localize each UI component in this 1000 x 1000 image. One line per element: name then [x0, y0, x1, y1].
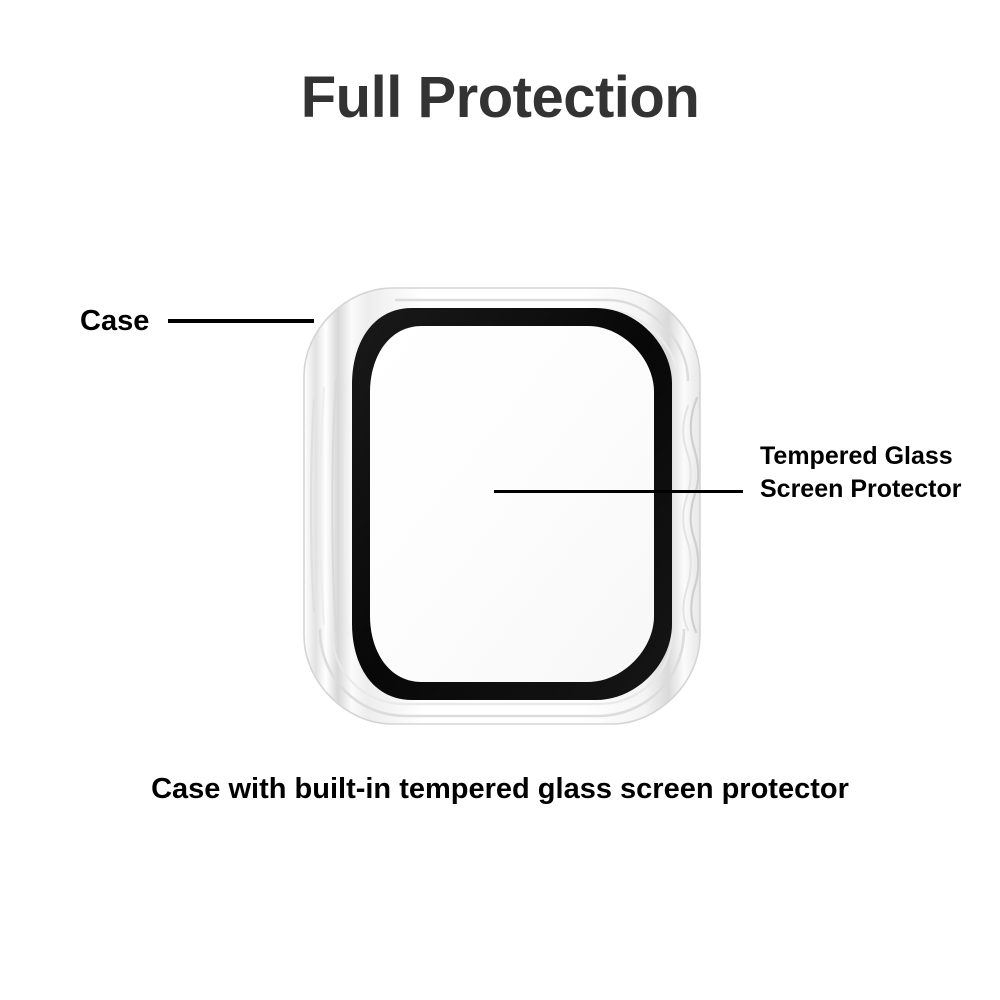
callout-case: Case — [80, 300, 314, 342]
callout-glass-leader-line — [494, 490, 743, 493]
bottom-caption: Case with built-in tempered glass screen… — [0, 772, 1000, 807]
page-title: Full Protection — [0, 66, 1000, 131]
callout-glass-label-line1: Tempered Glass — [760, 440, 961, 473]
callout-case-label: Case — [80, 307, 149, 336]
tempered-glass-screen — [370, 326, 654, 682]
product-illustration — [296, 280, 708, 732]
callout-glass-label-line2: Screen Protector — [760, 473, 961, 506]
smartwatch-case-svg — [296, 280, 708, 732]
infographic-canvas: Full Protection — [0, 0, 1000, 1000]
callout-case-leader-line — [168, 319, 314, 323]
callout-glass-label: Tempered Glass Screen Protector — [760, 440, 961, 506]
screen-surface — [370, 326, 654, 682]
